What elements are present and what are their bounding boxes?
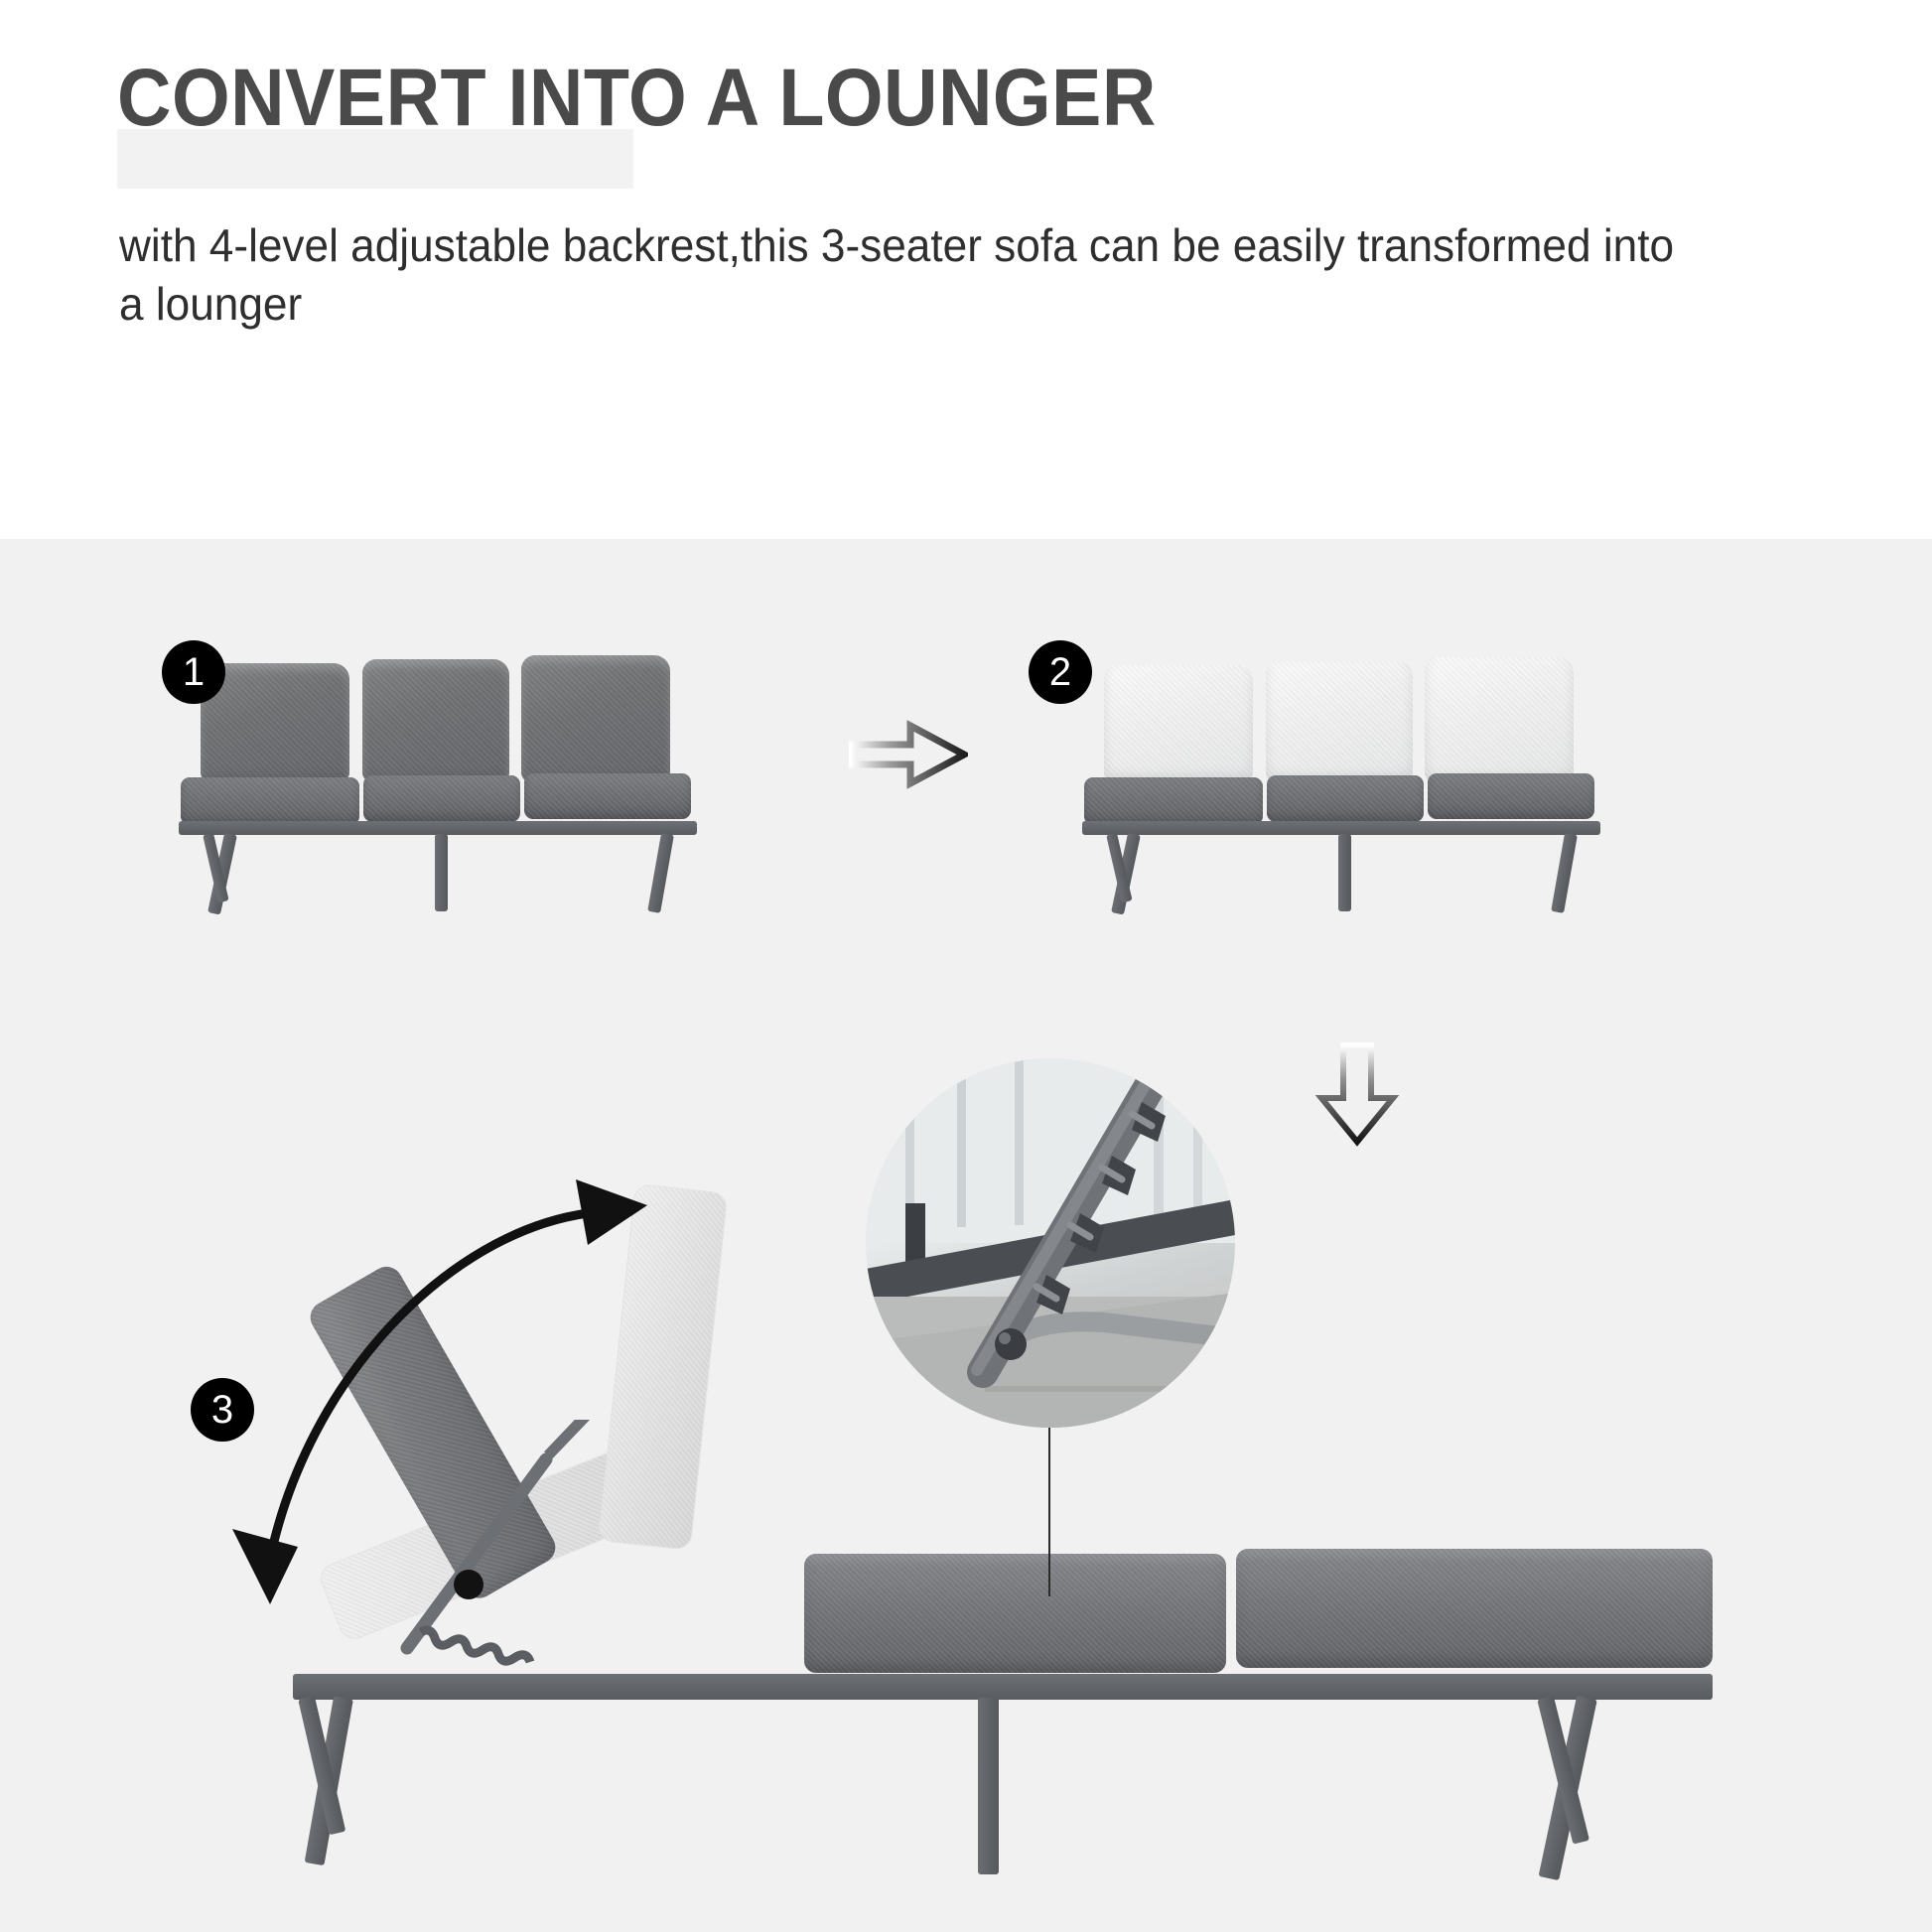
seat-cushion-left: [1084, 777, 1263, 825]
page-title: CONVERT INTO A LOUNGER: [117, 52, 1157, 145]
curved-double-arrow-icon: [199, 1142, 655, 1638]
step-badge-3: 3: [191, 1378, 254, 1442]
seat-cushion-middle: [1267, 775, 1424, 822]
back-cushion-right-removed: [1425, 657, 1574, 782]
step-badge-2-label: 2: [1049, 652, 1071, 692]
back-cushion-left-removed: [1104, 665, 1253, 782]
seat-cushion-left: [181, 777, 359, 825]
step-2-sofa: [1082, 645, 1698, 894]
back-cushion-middle-removed: [1266, 661, 1413, 782]
step-1-sofa: [179, 645, 794, 894]
arrow-right-icon: [849, 718, 968, 791]
arrow-down-icon: [1312, 1042, 1402, 1147]
detail-leader-line: [1048, 1428, 1050, 1596]
frame-rail: [1082, 821, 1600, 835]
header-section: CONVERT INTO A LOUNGER with 4-level adju…: [0, 0, 1932, 539]
seat-cushion-right: [524, 773, 691, 819]
back-cushion-right: [521, 655, 670, 782]
seat-cushion-middle: [363, 775, 520, 822]
back-cushion-middle: [362, 659, 509, 782]
seat-cushion-right: [1428, 773, 1594, 819]
ratchet-bracket-closeup-inset: [866, 1058, 1235, 1428]
frame-rail: [179, 821, 697, 835]
leg-center: [1338, 834, 1351, 911]
leg-center: [435, 834, 448, 911]
step-badge-3-label: 3: [211, 1390, 233, 1430]
page-subtitle: with 4-level adjustable backrest,this 3-…: [119, 216, 1702, 334]
infographic-page: CONVERT INTO A LOUNGER with 4-level adju…: [0, 0, 1932, 1932]
step-badge-1: 1: [162, 640, 225, 704]
step-badge-2: 2: [1029, 640, 1092, 704]
step-badge-1-label: 1: [183, 652, 205, 692]
